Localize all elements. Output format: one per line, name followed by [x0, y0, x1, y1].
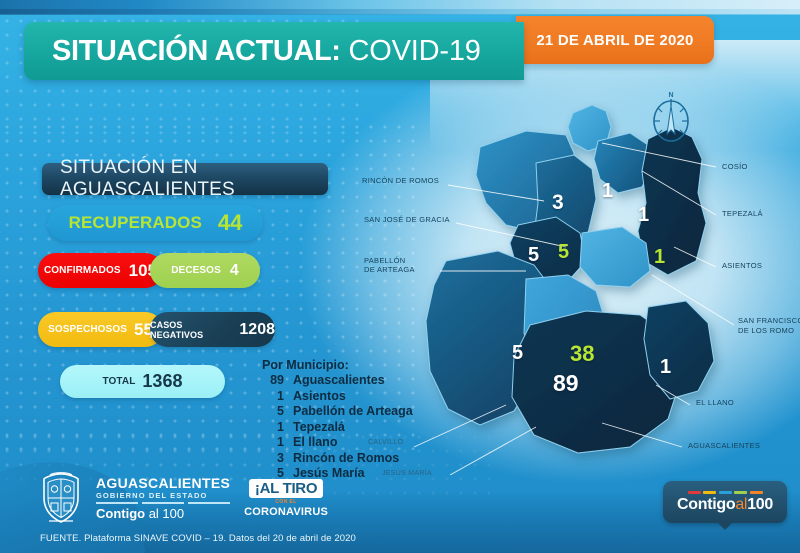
panel-heading-text: SITUACIÓN EN AGUASCALIENTES: [60, 157, 328, 201]
gov-slogan-bold: Contigo: [96, 506, 145, 521]
altiro-sub: CON EL: [244, 500, 328, 505]
municipality-value: 3: [262, 451, 284, 467]
municipality-name: Asientos: [293, 389, 346, 405]
municipality-value: 1: [262, 420, 284, 436]
stat-label: CASOS NEGATIVOS: [150, 320, 235, 340]
badge-dash: [688, 491, 701, 494]
badge-dashes: [688, 491, 763, 494]
footer-logos: AGUASCALIENTES GOBIERNO DEL ESTADO Conti…: [40, 472, 328, 524]
stat-value: 1368: [142, 371, 182, 392]
badge-dash: [734, 491, 747, 494]
municipality-value: 1: [262, 435, 284, 451]
gov-slogan: Contigo al 100: [96, 507, 230, 520]
stat-value: 1208: [239, 321, 275, 339]
list-item: 3 Rincón de Romos: [262, 451, 413, 467]
date-banner: 21 DE ABRIL DE 2020: [516, 16, 714, 64]
gov-subtitle: GOBIERNO DEL ESTADO: [96, 492, 230, 500]
altiro-logo: ¡AL TIRO CON EL CORONAVIRUS: [244, 479, 328, 518]
panel-heading: SITUACIÓN EN AGUASCALIENTES: [42, 163, 328, 195]
badge-text-number: 100: [747, 496, 773, 513]
divider: [96, 502, 230, 504]
stat-label: RECUPERADOS: [69, 213, 202, 233]
municipality-name: Tepezalá: [293, 420, 345, 436]
map-label-tepezala: TEPEZALÁ: [722, 209, 763, 218]
government-wordmark: AGUASCALIENTES GOBIERNO DEL ESTADO Conti…: [96, 476, 230, 521]
badge-dash: [703, 491, 716, 494]
municipality-asientos: [638, 127, 706, 275]
municipality-name: El llano: [293, 435, 337, 451]
altiro-band: ¡AL TIRO: [249, 479, 323, 498]
map-label-san-francisco-de-los-romo-line2: DE LOS ROMO: [738, 326, 794, 335]
altiro-coronavirus: CORONAVIRUS: [244, 507, 328, 518]
gov-state-name: AGUASCALIENTES: [96, 476, 230, 490]
stat-total: TOTAL 1368: [60, 365, 225, 398]
municipality-name: Pabellón de Arteaga: [293, 404, 413, 420]
municipality-name: Aguascalientes: [293, 373, 385, 389]
badge-dash: [750, 491, 763, 494]
stat-label: TOTAL: [103, 376, 136, 387]
stat-label: CONFIRMADOS: [44, 265, 121, 276]
stat-label: SOSPECHOSOS: [48, 324, 127, 335]
list-item: 1 Asientos: [262, 389, 413, 405]
divider-dash: [96, 502, 138, 504]
list-item: 5 Pabellón de Arteaga: [262, 404, 413, 420]
map-label-san-francisco-de-los-romo: SAN FRANCISCO: [738, 316, 800, 325]
page-title: SITUACIÓN ACTUAL:: [52, 35, 341, 68]
stat-decesos: DECESOS 4: [150, 253, 260, 288]
compass-rose-icon: N: [645, 86, 697, 146]
stat-sospechosos: SOSPECHOSOS 55: [38, 312, 163, 347]
stat-recuperados: RECUPERADOS 44: [48, 205, 263, 241]
infographic-canvas: 21 DE ABRIL DE 2020 SITUACIÓN ACTUAL: CO…: [0, 0, 800, 553]
top-stripe-accent: [0, 9, 800, 15]
title-banner: SITUACIÓN ACTUAL: COVID-19: [24, 22, 524, 80]
map-label-aguascalientes: AGUASCALIENTES: [688, 441, 760, 450]
gov-slogan-thin: al 100: [145, 506, 184, 521]
municipality-value: 89: [262, 373, 284, 389]
divider-dash: [188, 502, 230, 504]
stat-label: DECESOS: [171, 265, 221, 276]
stat-value: 44: [218, 210, 242, 236]
stat-casos-negativos: CASOS NEGATIVOS 1208: [150, 312, 275, 347]
map-label-pabellon-de-arteaga-line2: DE ARTEAGA: [364, 265, 415, 274]
map-label-pabellon-de-arteaga: PABELLÓN: [364, 256, 405, 265]
svg-text:N: N: [668, 92, 673, 99]
badge-text-thin: al: [735, 496, 747, 513]
badge-text: Contigoal100: [677, 496, 773, 514]
badge-text-bold: Contigo: [677, 496, 735, 513]
municipality-name: Rincón de Romos: [293, 451, 399, 467]
list-item: 89 Aguascalientes: [262, 373, 413, 389]
contigo-al-100-badge: Contigoal100: [663, 481, 787, 523]
municipality-list: Por Municipio: 89 Aguascalientes 1 Asien…: [262, 358, 413, 482]
stat-value: 4: [230, 262, 239, 280]
municipality-list-title: Por Municipio:: [262, 358, 413, 372]
map-label-cosio: COSÍO: [722, 162, 748, 171]
municipality-value: 1: [262, 389, 284, 405]
map-label-asientos: ASIENTOS: [722, 261, 762, 270]
stat-confirmados: CONFIRMADOS 105: [38, 253, 163, 288]
list-item: 1 El llano: [262, 435, 413, 451]
map-label-san-jose-de-gracia: SAN JOSÉ DE GRACIA: [364, 215, 450, 224]
divider-dash: [142, 502, 184, 504]
page-title-subject: COVID-19: [349, 35, 481, 68]
map-label-el-llano: EL LLANO: [696, 398, 734, 407]
map-label-rincon-de-romos: RINCÓN DE ROMOS: [362, 176, 439, 185]
badge-dash: [719, 491, 732, 494]
aguascalientes-coat-of-arms-icon: [40, 472, 82, 524]
date-text: 21 DE ABRIL DE 2020: [536, 32, 693, 49]
source-note: FUENTE. Plataforma SINAVE COVID – 19. Da…: [40, 533, 356, 544]
list-item: 1 Tepezalá: [262, 420, 413, 436]
municipality-value: 5: [262, 404, 284, 420]
